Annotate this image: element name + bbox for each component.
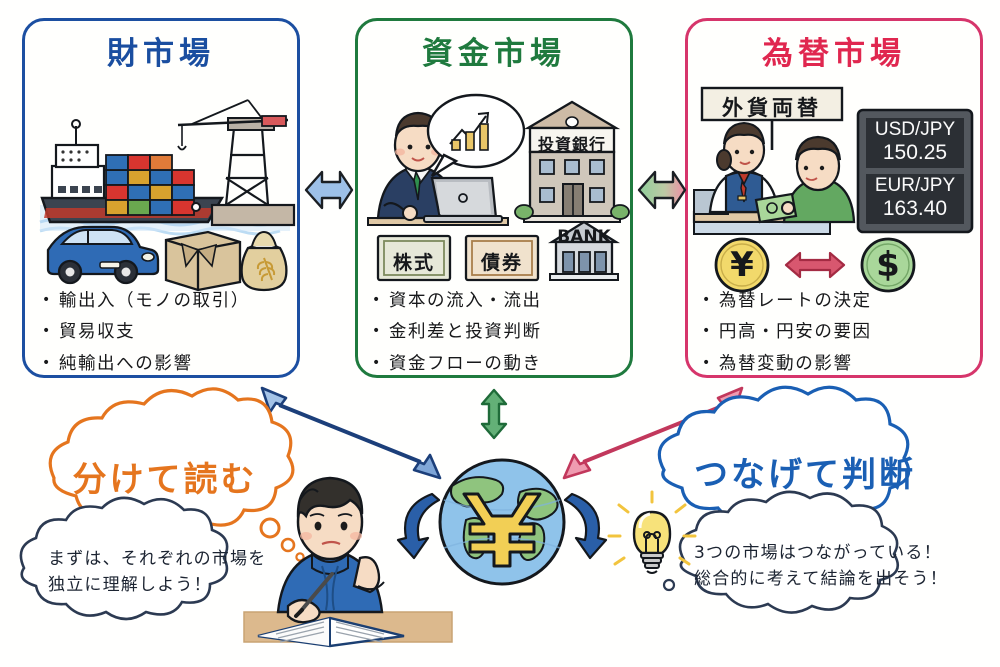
rate-pair-usdjpy: USD/JPY [866, 119, 964, 141]
bullet-text: 純輸出への影響 [59, 353, 193, 376]
bullet-item: •為替変動の影響 [702, 353, 972, 376]
bullet-text: 輸出入（モノの取引） [59, 290, 250, 313]
right-note-line: 3つの市場はつながっている！ [694, 540, 964, 566]
right-callout-note: 3つの市場はつながっている！ 総合的に考えて結論を出そう！ [694, 540, 964, 593]
bullet-text: 為替変動の影響 [719, 353, 853, 376]
dollar-coin-symbol: $ [862, 246, 914, 284]
bullet-item: •資本の流入・流出 [372, 290, 627, 313]
bullets-capital-market: •資本の流入・流出 •金利差と投資判断 •資金フローの動き [372, 290, 627, 384]
left-callout-headline: 分けて読む [40, 452, 290, 501]
left-note-line: まずは、それぞれの市場を [48, 546, 268, 572]
bullets-goods-market: •輸出入（モノの取引） •貿易収支 •純輸出への影響 [42, 290, 292, 384]
bullet-text: 貿易収支 [59, 321, 135, 344]
connector-capital-fx [639, 172, 685, 208]
fx-counter-sign-label: 外貨両替 [702, 92, 842, 122]
connector-goods-capital [306, 172, 352, 208]
bullet-text: 金利差と投資判断 [389, 321, 542, 344]
right-callout-headline: つなげて判断 [660, 447, 950, 496]
bond-certificate-label: 債券 [466, 248, 538, 275]
panel-title-goods-market: 財市場 [22, 28, 300, 73]
stock-certificate-label: 株式 [378, 248, 450, 275]
bank-sign-label: 投資銀行 [530, 131, 614, 155]
connector-capital-globe [482, 390, 506, 438]
diagram-canvas: 財市場 [0, 0, 1000, 667]
right-note-line: 総合的に考えて結論を出そう！ [694, 566, 964, 592]
left-note-line: 独立に理解しよう！ [48, 572, 268, 598]
panel-title-capital-market: 資金市場 [355, 28, 633, 73]
bullet-item: •為替レートの決定 [702, 290, 972, 313]
bullet-text: 為替レートの決定 [719, 290, 872, 313]
bullet-item: •金利差と投資判断 [372, 321, 627, 344]
bank-building-label: BANK [552, 227, 616, 247]
bullets-fx-market: •為替レートの決定 •円高・円安の要因 •為替変動の影響 [702, 290, 972, 384]
bullet-item: •純輸出への影響 [42, 353, 292, 376]
bullet-item: •円高・円安の要因 [702, 321, 972, 344]
bullet-text: 資金フローの動き [389, 353, 542, 376]
bullet-item: •資金フローの動き [372, 353, 627, 376]
panel-title-fx-market: 為替市場 [685, 28, 983, 73]
left-callout-note: まずは、それぞれの市場を 独立に理解しよう！ [48, 546, 268, 599]
yen-coin-symbol: ¥ [716, 246, 768, 284]
bullet-item: •貿易収支 [42, 321, 292, 344]
bullet-text: 円高・円安の要因 [719, 321, 872, 344]
bullet-text: 資本の流入・流出 [389, 290, 542, 313]
rate-value-eurjpy: 163.40 [866, 197, 964, 221]
rate-value-usdjpy: 150.25 [866, 141, 964, 165]
bullet-item: •輸出入（モノの取引） [42, 290, 292, 313]
rate-pair-eurjpy: EUR/JPY [866, 175, 964, 197]
